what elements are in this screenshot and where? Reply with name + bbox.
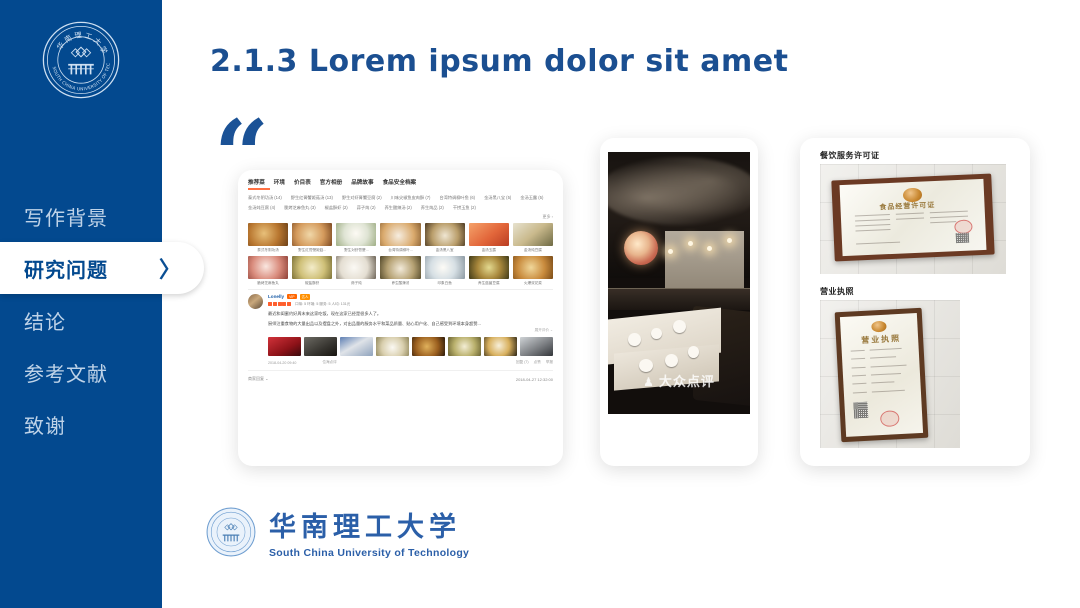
certificate-frame: 营业执照	[835, 308, 928, 443]
dish-thumbnail[interactable]: 蒜子炖	[336, 256, 376, 286]
dish-caption: 蒜子炖	[351, 281, 362, 286]
dish-caption: 金汤炖豆腐	[524, 248, 542, 253]
star-icon	[282, 302, 286, 306]
badge-expert: 达人	[300, 294, 311, 300]
chip[interactable]: 蒜子炖 (2)	[357, 205, 376, 211]
rating-meta: 口味: 5 环境: 5 服务: 5 人均: 131元	[295, 302, 350, 307]
chip[interactable]: 野生红膏蟹姬菇汤 (13)	[291, 195, 333, 201]
dish-thumbnail[interactable]: 印象白鱼	[425, 256, 465, 286]
tableware	[673, 320, 686, 333]
sidebar-item-label: 结论	[24, 306, 66, 335]
chip[interactable]: 养生炖品 (2)	[421, 205, 444, 211]
dish-image	[380, 223, 420, 246]
pendant-light	[688, 241, 693, 246]
merchant-reply-row: 商家回复 ⌄ 2018-04-27 12:32:00	[248, 370, 553, 382]
chip[interactable]: 金汤黑八宝 (5)	[484, 195, 511, 201]
review-photo[interactable]	[376, 337, 409, 356]
tab-brand-story[interactable]: 品牌故事	[351, 178, 373, 186]
review-photo[interactable]	[484, 337, 517, 356]
footer-university-logo: 华南理工大学 South China University of Technol…	[205, 505, 469, 559]
sidebar-item-writing-background[interactable]: 写作背景	[0, 190, 200, 242]
dish-image	[425, 223, 465, 246]
tableware	[651, 328, 662, 340]
review-photo[interactable]	[520, 337, 553, 356]
dish-thumbnail[interactable]: 脆烤芝麻鱼丸	[248, 256, 288, 286]
tab-environment[interactable]: 环境	[274, 178, 285, 186]
dish-caption: 椒盐酥虾	[305, 281, 319, 286]
dish-image	[469, 256, 509, 279]
dish-thumbnail[interactable]: 野生对虾膏蟹...	[336, 223, 376, 253]
dish-image	[513, 223, 553, 246]
chip[interactable]: 干捞玉鱼 (2)	[453, 205, 476, 211]
dianping-logo-icon: ♟	[643, 375, 655, 389]
sidebar-item-research-question[interactable]: 研究问题 〉	[0, 242, 204, 294]
dish-thumbnail-grid-row1: 泰式冬阴功汤 野生红膏蟹姬菇... 野生对虾膏蟹... 台湾特调柳叶... 金汤…	[248, 223, 553, 253]
dish-thumbnail[interactable]: 野生红膏蟹姬菇...	[292, 223, 332, 253]
review-tabs: 推荐菜 环境 价目表 官方相册 品牌故事 食品安全档案	[248, 178, 553, 186]
expand-review-link[interactable]: 展开评价 ⌄	[268, 328, 553, 333]
dish-caption: 养生菇菌豆腐	[478, 281, 500, 286]
review-photo[interactable]	[340, 337, 373, 356]
tab-food-safety-file[interactable]: 食品安全档案	[383, 178, 417, 186]
dish-thumbnail[interactable]: 火爆双花菜	[513, 256, 553, 286]
dish-image	[336, 223, 376, 246]
dish-caption: 火爆双花菜	[524, 281, 542, 286]
restaurant-photo-card: ♟大众点评	[600, 138, 758, 466]
review-footer: 2018-04-20 09:40 位海点评 回复 (7) 点赞 举报	[268, 360, 553, 365]
chevron-right-icon: 〉	[159, 252, 182, 284]
page-title: 2.1.3 Lorem ipsum dolor sit amet	[210, 44, 788, 79]
merchant-reply-timestamp: 2018-04-27 12:32:00	[516, 377, 553, 382]
star-icon	[278, 302, 282, 306]
chip[interactable]: 椒盐酥虾 (2)	[325, 205, 348, 211]
sidebar-item-label: 致谢	[24, 410, 66, 439]
university-seal-icon	[205, 506, 257, 558]
dish-image	[248, 223, 288, 246]
active-tab-underline	[248, 188, 270, 190]
university-seal-icon: 华 南 理 工 大 学 SOUTH CHINA UNIVERSITY OF TE…	[41, 20, 121, 100]
dish-thumbnail[interactable]: 台湾特调柳叶...	[380, 223, 420, 253]
dish-image	[292, 223, 332, 246]
dish-thumbnail[interactable]: 金汤玉露	[469, 223, 509, 253]
sidebar-item-label: 写作背景	[24, 202, 108, 231]
tableware	[665, 354, 678, 367]
chip[interactable]: 野生对虾膏蟹豆腐 (2)	[342, 195, 382, 201]
restaurant-interior-image: ♟大众点评	[608, 152, 750, 414]
report-button[interactable]: 举报	[546, 360, 553, 365]
food-service-license-label: 餐饮服务许可证	[820, 150, 880, 161]
national-emblem-icon	[871, 321, 887, 333]
dish-thumbnail[interactable]: 椒盐酥虾	[292, 256, 332, 286]
dish-image	[248, 256, 288, 279]
sidebar-item-label: 研究问题	[24, 254, 108, 283]
star-rating: 口味: 5 环境: 5 服务: 5 人均: 131元	[268, 302, 553, 307]
dish-image	[292, 256, 332, 279]
certificate-title: 营业执照	[861, 334, 902, 347]
dish-thumbnail[interactable]: 养生酸辣汤	[380, 256, 420, 286]
chip[interactable]: 川味尖椒鱼皮肉酥 (7)	[391, 195, 431, 201]
review-text-line-1: 最近和闺蜜约好周末来这家吃饭，现在这家已经是很多人了。	[268, 310, 553, 317]
dish-image	[513, 256, 553, 279]
dish-caption: 野生红膏蟹姬菇...	[298, 248, 326, 253]
qr-code-icon	[854, 403, 869, 419]
tab-official-album[interactable]: 官方相册	[320, 178, 342, 186]
svg-text:华 南 理 工 大 学: 华 南 理 工 大 学	[55, 30, 110, 55]
review-photo[interactable]	[412, 337, 445, 356]
review-screenshot-card: 推荐菜 环境 价目表 官方相册 品牌故事 食品安全档案 泰式冬阴功汤 (14) …	[238, 170, 563, 466]
chip[interactable]: 台湾特调柳叶鱼 (6)	[439, 195, 475, 201]
review-entry: Lonelly VIP 达人 口味: 5 环境: 5 服务: 5 人均: 131…	[248, 294, 553, 366]
divider	[248, 289, 553, 290]
merchant-reply-dropdown[interactable]: 商家回复 ⌄	[248, 376, 268, 382]
chip[interactable]: 泰式冬阴功汤 (14)	[248, 195, 282, 201]
pendant-light	[668, 249, 673, 254]
dish-thumbnail[interactable]: 金汤炖豆腐	[513, 223, 553, 253]
sidebar-item-conclusion[interactable]: 结论	[0, 294, 200, 346]
dish-image	[425, 256, 465, 279]
dish-caption: 养生酸辣汤	[392, 281, 410, 286]
business-license-photo: 营业执照	[820, 300, 960, 448]
certificate-frame: 食品经营许可证	[831, 174, 994, 262]
partition-rail	[608, 288, 750, 310]
like-button[interactable]: 点赞	[534, 360, 541, 365]
business-license-label: 营业执照	[820, 286, 854, 297]
review-photo[interactable]	[268, 337, 301, 356]
dish-caption: 台湾特调柳叶...	[388, 248, 413, 253]
dish-thumbnail[interactable]: 养生菇菌豆腐	[469, 256, 509, 286]
sidebar-item-acknowledgement[interactable]: 致谢	[0, 398, 200, 450]
tab-price-list[interactable]: 价目表	[294, 178, 311, 186]
round-lantern	[624, 231, 658, 265]
avatar[interactable]	[248, 294, 263, 309]
star-icon	[287, 302, 291, 306]
tableware	[688, 346, 699, 358]
dish-image	[469, 223, 509, 246]
dish-caption: 印象白鱼	[437, 281, 451, 286]
dish-filter-chips: 泰式冬阴功汤 (14) 野生红膏蟹姬菇汤 (13) 野生对虾膏蟹豆腐 (2) 川…	[248, 195, 553, 211]
chip[interactable]: 脆烤芝麻鱼丸 (3)	[284, 205, 315, 211]
dish-thumbnail-grid-row2: 脆烤芝麻鱼丸 椒盐酥虾 蒜子炖 养生酸辣汤 印象白鱼 养生菇菌豆腐 火爆双花菜	[248, 256, 553, 286]
ceiling-ornament	[608, 157, 750, 225]
certificate-title: 食品经营许可证	[879, 200, 935, 212]
dish-caption: 金汤玉露	[482, 248, 496, 253]
qr-code-icon	[955, 233, 968, 244]
dianping-watermark: ♟大众点评	[608, 371, 750, 390]
dish-caption: 脆烤芝麻鱼丸	[257, 281, 279, 286]
review-location: 位海点评	[322, 360, 336, 365]
review-photo-strip	[268, 337, 553, 356]
university-name-en: South China University of Technology	[269, 547, 469, 559]
review-photo[interactable]	[304, 337, 337, 356]
reviewer-username[interactable]: Lonelly	[268, 294, 284, 299]
tableware	[628, 333, 641, 346]
reply-count[interactable]: 回复 (7)	[516, 360, 529, 365]
chip[interactable]: 金汤炖豆腐 (4)	[248, 205, 275, 211]
chip[interactable]: 养生酸辣汤 (2)	[385, 205, 412, 211]
watermark-text: 大众点评	[659, 374, 715, 389]
dish-thumbnail[interactable]: 泰式冬阴功汤	[248, 223, 288, 253]
dish-caption: 金汤黑八宝	[436, 248, 454, 253]
food-service-license-photo: 食品经营许可证	[820, 164, 1006, 274]
university-name-cn: 华南理工大学	[269, 505, 469, 544]
dish-caption: 野生对虾膏蟹...	[344, 248, 369, 253]
review-timestamp: 2018-04-20 09:40	[268, 361, 296, 365]
dish-image	[380, 256, 420, 279]
chip[interactable]: 金汤玉露 (5)	[520, 195, 543, 201]
dish-thumbnail[interactable]: 金汤黑八宝	[425, 223, 465, 253]
certificates-card: 餐饮服务许可证 食品经营许可证 营业执照	[800, 138, 1030, 466]
sidebar: 华 南 理 工 大 学 SOUTH CHINA UNIVERSITY OF TE…	[0, 0, 162, 608]
review-photo[interactable]	[448, 337, 481, 356]
badge-vip: VIP	[287, 294, 296, 299]
star-icon	[273, 302, 277, 306]
more-link[interactable]: 更多 ›	[248, 214, 553, 220]
sidebar-item-references[interactable]: 参考文献	[0, 346, 200, 398]
sidebar-item-label: 参考文献	[24, 358, 108, 387]
tab-recommended-dishes[interactable]: 推荐菜	[248, 178, 265, 186]
dish-caption: 泰式冬阴功汤	[257, 248, 279, 253]
review-text-line-2: 厨师注重食物的大量出品以及摆盘之外，对出品量的服务水平和菜品质量、贴心用户化、自…	[268, 320, 553, 327]
wall-panel	[665, 231, 745, 289]
dish-image	[336, 256, 376, 279]
star-icon	[268, 302, 272, 306]
red-stamp	[880, 411, 900, 428]
sidebar-nav: 写作背景 研究问题 〉 结论 参考文献 致谢	[0, 190, 200, 450]
